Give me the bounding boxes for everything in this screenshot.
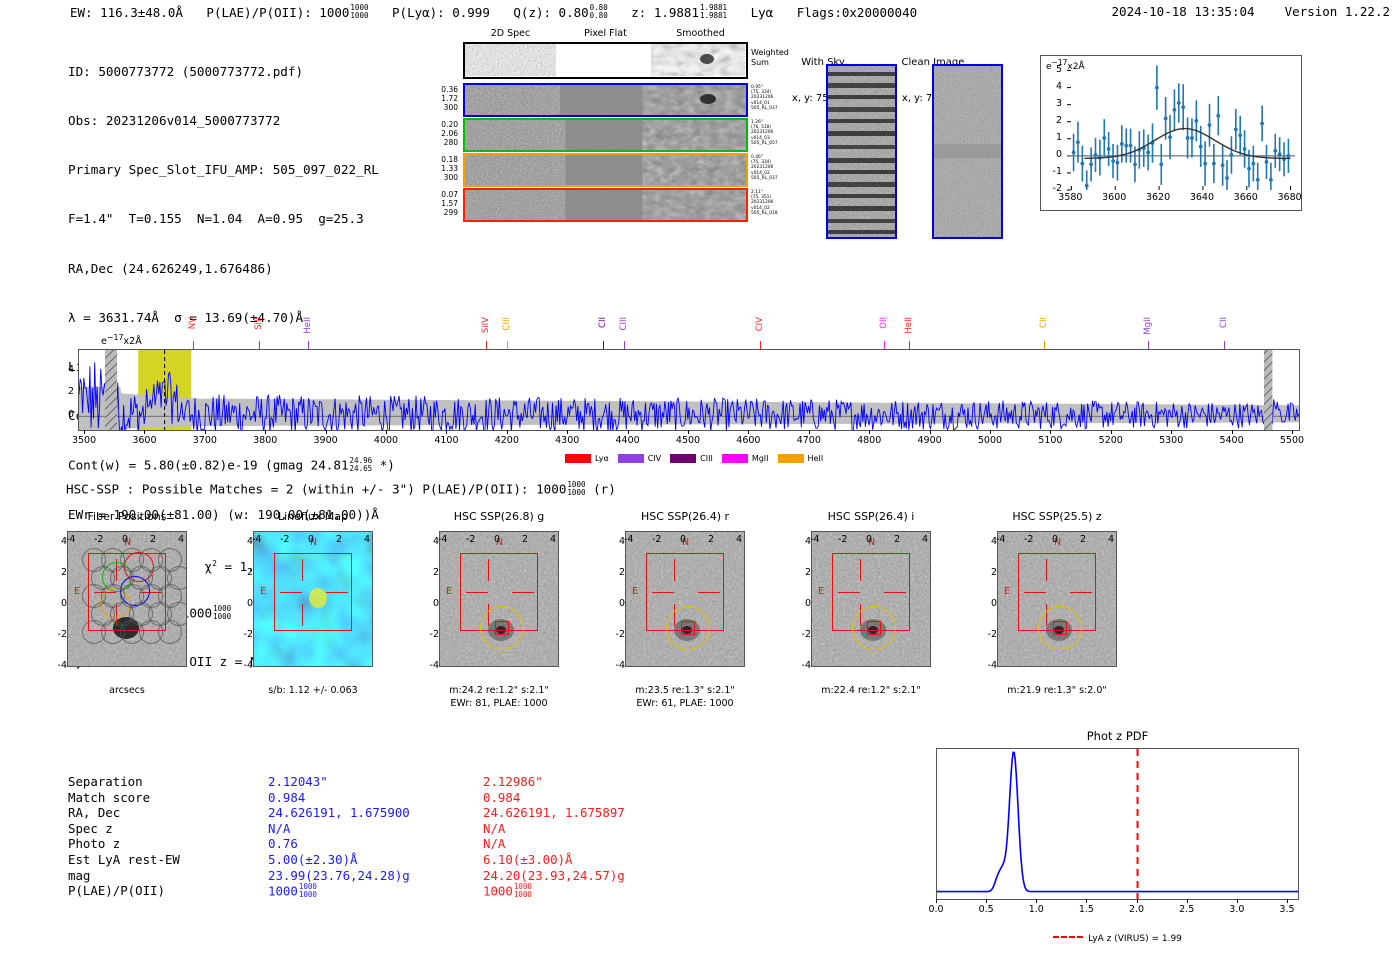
spectrum-line-tick (259, 341, 260, 349)
cutout-xtick: 2 (894, 534, 900, 545)
cutout-title: HSC SSP(26.4) r (605, 510, 765, 523)
header-ew: EW: 116.3±48.0Å (70, 5, 183, 20)
cutout-crosshair (1046, 559, 1047, 581)
match-row-label: mag (68, 868, 268, 884)
cutout-image-image: NE (625, 531, 745, 667)
photz-xtick-mark (1237, 899, 1238, 903)
cutout-crosshair (512, 592, 534, 593)
header-plya: P(Lyα): 0.999 (392, 5, 490, 20)
photz-xtick-mark (1086, 899, 1087, 903)
panel-1-left-nums: 0.20 2.06 280 (424, 120, 458, 148)
spectrum-xtick: 5200 (1091, 435, 1131, 446)
photz-xtick-mark (1036, 899, 1037, 903)
spectrum-legend-item: Lyα (565, 454, 609, 463)
cutout-ytick: -4 (41, 660, 67, 671)
spectrum-xtick: 5300 (1151, 435, 1191, 446)
spectrum-legend: LyαCIVCIIIMgIIHeII (565, 452, 855, 464)
match-row-value-blue: 23.99(23.76,24.28)g (268, 868, 483, 884)
spectrum-line-tick (193, 341, 194, 349)
match-table-row: RA, Dec24.626191, 1.67590024.626191, 1.6… (68, 805, 723, 821)
spectrum-line-label-cii-12: CII (1219, 317, 1229, 328)
spectrum-legend-item: CIII (670, 454, 713, 463)
legend-swatch (565, 454, 591, 463)
header-plae: P(LAE)/P(OII): 100010001000 (206, 5, 368, 20)
photz-xtick-mark (936, 899, 937, 903)
spectrum-xtick: 5500 (1272, 435, 1312, 446)
cutout-ytick: -2 (971, 629, 997, 640)
photz-xtick: 1.5 (1070, 904, 1102, 915)
fiber-panel-3 (463, 188, 748, 222)
spectrum-xtick-mark (1232, 430, 1233, 434)
spectrum-xtick-mark (567, 430, 568, 434)
cutout-xtick: -2 (652, 534, 661, 545)
col-title-smoothed: Smoothed (653, 28, 748, 39)
spectrum-xtick: 4100 (426, 435, 466, 446)
cutout-ytick: 2 (227, 567, 253, 578)
spectrum-line-tick (1224, 341, 1225, 349)
legend-swatch (722, 454, 748, 463)
spectrum-line-tick (308, 341, 309, 349)
spectrum-xtick-mark (205, 430, 206, 434)
header-meta: 2024-10-18 13:35:04 Version 1.22.2 (1112, 4, 1390, 19)
clean-image (932, 64, 1003, 239)
cutout-xtick: -4 (438, 534, 447, 545)
cutout-title: HSC SSP(26.8) g (419, 510, 579, 523)
cutout-ytick: -4 (227, 660, 253, 671)
match-row-value-red: 24.626191, 1.675897 (483, 805, 723, 821)
cutout-crosshair (280, 592, 302, 593)
match-row-label: Est LyA rest-EW (68, 852, 268, 868)
header-version: Version 1.22.2 (1285, 4, 1390, 19)
cutout-title: Fiber Positions (47, 510, 207, 523)
spectrum-xtick: 3800 (245, 435, 285, 446)
cutout-panel-5[interactable]: HSC SSP(25.5) zNE420-2-4-4-2024m:21.9 re… (997, 531, 1117, 667)
cutout-crosshair (838, 592, 860, 593)
photz-legend-label: LyA z (VIRUS) = 1.99 (1088, 934, 1182, 944)
cutout-crosshair (884, 592, 906, 593)
header-timestamp: 2024-10-18 13:35:04 (1112, 4, 1255, 19)
match-row-value-red: 6.10(±3.00)Å (483, 852, 723, 868)
spectrum-line-label-siii-1: SiII (254, 317, 264, 330)
match-row-value-blue: 0.984 (268, 790, 483, 806)
cutout-xtick: -2 (466, 534, 475, 545)
cutout-match-marker (867, 621, 881, 635)
spectrum-legend-item: MgII (722, 454, 769, 463)
spectrum-xtick: 4900 (910, 435, 950, 446)
cutout-ytick: -2 (785, 629, 811, 640)
match-table-row: Spec zN/AN/A (68, 821, 723, 837)
spectrum-xtick: 5400 (1212, 435, 1252, 446)
cutout-xtick: -2 (94, 534, 103, 545)
cutout-panel-0[interactable]: Fiber PositionsNE420-2-4-4-2024arcsecs (67, 531, 187, 667)
cutout-image-image: NE (997, 531, 1117, 667)
cutout-ytick: -2 (599, 629, 625, 640)
photz-legend-dash (1053, 936, 1083, 938)
weighted-sum-image (465, 44, 745, 76)
fiber-panel-1 (463, 118, 748, 152)
fiber-panel-0 (463, 83, 748, 117)
cutout-xtick: 2 (150, 534, 156, 545)
cutout-ytick: 0 (41, 598, 67, 609)
spectrum-xtick-mark (1292, 430, 1293, 434)
cutout-caption-1: m:24.2 re:1.2" s:2.1" (415, 685, 583, 696)
cutout-xtick: -4 (252, 534, 261, 545)
match-row-label: Separation (68, 774, 268, 790)
spectrum-line-label-civ-7: CIV (755, 317, 765, 331)
cutout-ytick: 2 (785, 567, 811, 578)
spectrum-xtick-mark (84, 430, 85, 434)
cutout-east-label: E (446, 586, 452, 597)
cutout-ytick: -4 (599, 660, 625, 671)
cutout-xtick: 4 (364, 534, 370, 545)
spectrum-line-tick (1044, 341, 1045, 349)
spectrum-xtick: 4700 (789, 435, 829, 446)
line-profile-svg (1041, 56, 1301, 210)
photz-legend: LyA z (VIRUS) = 1.99 (936, 934, 1299, 944)
cutout-ytick: -4 (785, 660, 811, 671)
cutout-ytick: 4 (227, 536, 253, 547)
cutout-title: Lineflux Map (233, 510, 393, 523)
match-properties-table: Separation2.12043"2.12986"Match score0.9… (68, 774, 723, 899)
cutout-caption-2: EWr: 61, PLAE: 1000 (601, 698, 769, 709)
legend-swatch (618, 454, 644, 463)
spectrum-line-tick (624, 341, 625, 349)
panel-0-left-nums: 0.36 1.72 300 (424, 85, 458, 113)
cutout-east-label: E (632, 586, 638, 597)
fiber-panel-2 (463, 153, 748, 187)
cutout-ytick: 4 (971, 536, 997, 547)
cutout-panel-4[interactable]: HSC SSP(26.4) iNE420-2-4-4-2024m:22.4 re… (811, 531, 931, 667)
cutout-ytick: 0 (971, 598, 997, 609)
cutout-xtick: -2 (280, 534, 289, 545)
match-row-value-blue: N/A (268, 821, 483, 837)
header-line-name: Lyα (751, 5, 774, 20)
spectrum-xtick: 4600 (728, 435, 768, 446)
cutout-xtick: 2 (336, 534, 342, 545)
cutout-xtick: -2 (838, 534, 847, 545)
header-qz: Q(z): 0.800.800.80 (513, 5, 607, 20)
spectrum-line-tick (486, 341, 487, 349)
cutout-xtick: 4 (922, 534, 928, 545)
panel-3-left-nums: 0.07 1.57 299 (424, 190, 458, 218)
cutout-panel-3[interactable]: HSC SSP(26.4) rNE420-2-4-4-2024m:23.5 re… (625, 531, 745, 667)
cutout-xtick: 0 (680, 534, 686, 545)
cutout-xtick: 2 (522, 534, 528, 545)
panel-2-right-label: 0.46" (75, 334) 20231206 v014_02 505_RL_… (751, 155, 803, 181)
spectrum-xtick: 4300 (547, 435, 587, 446)
panel-2-left-nums: 0.18 1.33 300 (424, 155, 458, 183)
cutout-image-image: NE (439, 531, 559, 667)
cutout-xtick: 4 (736, 534, 742, 545)
cutout-ytick: -2 (41, 629, 67, 640)
line-profile-ytick: 4 (1048, 81, 1062, 92)
line-profile-ytick: 1 (1048, 132, 1062, 143)
photz-xtick: 0.0 (920, 904, 952, 915)
cutout-xtick: 0 (494, 534, 500, 545)
spectrum-line-label-cii-5: CII (598, 317, 608, 328)
spectrum-xtick: 4200 (487, 435, 527, 446)
spectrum-xtick-mark (265, 430, 266, 434)
line-profile-plot: e−17x2Å (1040, 55, 1302, 211)
legend-swatch (778, 454, 804, 463)
photz-xtick-mark (1187, 899, 1188, 903)
full-spectrum-plot: e−17x2Å (78, 349, 1300, 431)
weighted-sum-panel (463, 42, 748, 79)
line-profile-ytick: 2 (1048, 115, 1062, 126)
cutout-image-image: NE (811, 531, 931, 667)
info-id: ID: 5000773772 (5000773772.pdf) (68, 64, 395, 80)
cutout-caption-1: s/b: 1.12 +/- 0.063 (229, 685, 397, 696)
match-row-value-red: 24.20(23.93,24.57)g (483, 868, 723, 884)
spectrum-xtick-mark (144, 430, 145, 434)
spectrum-xtick: 3700 (185, 435, 225, 446)
cutout-crosshair (1024, 592, 1046, 593)
info-cont-w: Cont(w) = 5.80(±0.82)e-19 (gmag 24.8124.… (68, 457, 395, 473)
cutout-ytick: 4 (41, 536, 67, 547)
cutout-ytick: 2 (41, 567, 67, 578)
cutout-crosshair (302, 559, 303, 581)
cutout-xtick: 4 (178, 534, 184, 545)
spectrum-xtick-mark (869, 430, 870, 434)
match-row-label: P(LAE)/P(OII) (68, 883, 268, 899)
match-row-value-blue: 100010001000 (268, 883, 483, 899)
cutout-ytick: 2 (599, 567, 625, 578)
match-table-row: P(LAE)/P(OII)100010001000100010001000 (68, 883, 723, 899)
cutout-image-fiber: NE (67, 531, 187, 667)
spectrum-legend-item: HeII (778, 454, 824, 463)
spectrum-ytick: 2 (62, 386, 74, 397)
spectrum-xtick: 5000 (970, 435, 1010, 446)
cutout-xtick: 2 (708, 534, 714, 545)
cutout-crosshair (1070, 592, 1092, 593)
photz-title: Phot z PDF (936, 729, 1299, 743)
hsc-ssp-header: HSC-SSP : Possible Matches = 2 (within +… (66, 481, 616, 497)
cutout-ytick: 0 (599, 598, 625, 609)
cutout-xtick: 0 (1052, 534, 1058, 545)
line-profile-xtick: 3580 (1054, 192, 1086, 203)
spectrum-xtick-mark (688, 430, 689, 434)
spectrum-xtick-mark (990, 430, 991, 434)
spec2d-block: 2D Spec Pixel Flat Smoothed (420, 28, 780, 258)
line-profile-xtick: 3620 (1142, 192, 1174, 203)
legend-label: CIV (648, 454, 661, 463)
match-table-row: Photo z0.76N/A (68, 836, 723, 852)
spectrum-line-label-oii-8: OII (879, 317, 889, 329)
legend-swatch (670, 454, 696, 463)
cutout-match-marker (681, 621, 695, 635)
photz-xtick-mark (1137, 899, 1138, 903)
spectrum-ytick: 4 (62, 364, 74, 375)
cutout-image-lineflux: NE (253, 531, 373, 667)
panel-3-right-label: 2.11" (75, 351) 20231206 v014_02 505_RL_… (751, 190, 803, 216)
line-profile-xtick: 3600 (1098, 192, 1130, 203)
spectrum-line-tick (507, 341, 508, 349)
cutout-crosshair (488, 559, 489, 581)
photz-svg (937, 749, 1298, 899)
photz-xtick: 3.0 (1221, 904, 1253, 915)
line-profile-xtick: 3640 (1186, 192, 1218, 203)
cutout-caption-1: m:21.9 re:1.3" s:2.0" (973, 685, 1141, 696)
match-row-value-red: 100010001000 (483, 883, 723, 899)
photz-xtick-mark (986, 899, 987, 903)
cutout-xtick: -4 (624, 534, 633, 545)
cutout-caption-1: m:23.5 re:1.3" s:2.1" (601, 685, 769, 696)
spectrum-ytick: 0 (62, 409, 74, 420)
match-row-value-blue: 5.00(±2.30)Å (268, 852, 483, 868)
match-row-label: RA, Dec (68, 805, 268, 821)
spectrum-xtick-mark (326, 430, 327, 434)
photz-xtick: 2.5 (1171, 904, 1203, 915)
spectrum-line-tick (1148, 341, 1149, 349)
legend-label: MgII (752, 454, 769, 463)
cutout-xtick: 4 (1108, 534, 1114, 545)
cutout-ytick: 2 (971, 567, 997, 578)
spectrum-line-label-heii-2: HeII (303, 317, 313, 334)
match-table-row: Separation2.12043"2.12986" (68, 774, 723, 790)
spectrum-line-label-mgii-11: MgII (1143, 317, 1153, 335)
match-row-value-red: 0.984 (483, 790, 723, 806)
line-profile-ytick: 3 (1048, 98, 1062, 109)
cutout-ytick: -4 (413, 660, 439, 671)
info-seeing: F=1.4" T=0.155 N=1.04 A=0.95 g=25.3 (68, 211, 395, 227)
match-row-label: Photo z (68, 836, 268, 852)
info-radec: RA,Dec (24.626249,1.676486) (68, 261, 395, 277)
cutout-crosshair (698, 592, 720, 593)
photz-xtick: 3.5 (1271, 904, 1303, 915)
line-profile-xtick: 3660 (1230, 192, 1262, 203)
photz-xtick: 0.5 (970, 904, 1002, 915)
spectrum-xtick: 5100 (1030, 435, 1070, 446)
spectrum-line-tick (603, 341, 604, 349)
cutout-caption-1: m:22.4 re:1.2" s:2.1" (787, 685, 955, 696)
spectrum-xtick-mark (386, 430, 387, 434)
spectrum-xtick: 3500 (64, 435, 104, 446)
match-row-value-red: N/A (483, 821, 723, 837)
cutout-ytick: 4 (413, 536, 439, 547)
cutout-ytick: 0 (227, 598, 253, 609)
legend-label: Lyα (595, 454, 609, 463)
legend-label: HeII (808, 454, 824, 463)
spectrum-xtick: 4800 (849, 435, 889, 446)
spectrum-line-label-siiv-3: SiIV (481, 317, 491, 333)
photz-pdf-plot (936, 748, 1299, 900)
cutout-xtick: -2 (1024, 534, 1033, 545)
cutout-title: HSC SSP(26.4) i (791, 510, 951, 523)
spectrum-xtick-mark (446, 430, 447, 434)
spectrum-xtick-mark (1171, 430, 1172, 434)
spectrum-xtick: 4500 (668, 435, 708, 446)
cutout-ytick: 0 (785, 598, 811, 609)
spectrum-units: e−17x2Å (101, 333, 142, 347)
spectrum-xtick-mark (1111, 430, 1112, 434)
full-spectrum-svg (79, 350, 1299, 430)
cutout-ytick: 0 (413, 598, 439, 609)
line-profile-ytick: 0 (1048, 149, 1062, 160)
match-table-row: mag23.99(23.76,24.28)g24.20(23.93,24.57)… (68, 868, 723, 884)
cutout-ytick: -2 (227, 629, 253, 640)
cutout-xtick: 0 (308, 534, 314, 545)
cutout-east-label: E (818, 586, 824, 597)
cutout-xtick: 0 (866, 534, 872, 545)
spectrum-xtick-mark (930, 430, 931, 434)
cutout-crosshair (652, 592, 674, 593)
match-row-value-blue: 0.76 (268, 836, 483, 852)
cutout-caption-2: EWr: 81, PLAE: 1000 (415, 698, 583, 709)
cutout-crosshair (466, 592, 488, 593)
info-primary-spec: Primary Spec_Slot_IFU_AMP: 505_097_022_R… (68, 162, 395, 178)
spectrum-line-label-ciii-6: CIII (619, 317, 629, 330)
spectrum-line-label-heii-9: HeII (904, 317, 914, 334)
legend-label: CIII (700, 454, 713, 463)
spectrum-xtick-mark (748, 430, 749, 434)
cutout-panel-2[interactable]: HSC SSP(26.8) gNE420-2-4-4-2024m:24.2 re… (439, 531, 559, 667)
spectrum-xtick-mark (628, 430, 629, 434)
cutout-ytick: 2 (413, 567, 439, 578)
match-row-value-red: N/A (483, 836, 723, 852)
spectrum-xtick: 3900 (306, 435, 346, 446)
cutout-east-label: E (74, 586, 80, 597)
line-profile-xtick: 3680 (1274, 192, 1306, 203)
photz-xtick: 2.0 (1121, 904, 1153, 915)
elixer-report-page: EW: 116.3±48.0Å P(LAE)/P(OII): 100010001… (0, 0, 1400, 953)
spectrum-xtick-mark (1050, 430, 1051, 434)
col-title-2dspec: 2D Spec (463, 28, 558, 39)
info-lambda: λ = 3631.74Å σ = 13.69(±4.70)Å (68, 310, 395, 326)
cutout-east-label: E (1004, 586, 1010, 597)
cutout-panel-1[interactable]: Lineflux MapNE420-2-4-4-2024s/b: 1.12 +/… (253, 531, 373, 667)
spectrum-line-label-nv-0: NV (188, 317, 198, 329)
cutout-ytick: 4 (785, 536, 811, 547)
spectrum-xtick: 4000 (366, 435, 406, 446)
cutout-match-marker (495, 621, 509, 635)
cutout-xtick: 0 (122, 534, 128, 545)
spectrum-line-label-cii-10: CII (1039, 317, 1049, 328)
line-profile-ytick: 5 (1048, 64, 1062, 75)
spectrum-xtick-mark (809, 430, 810, 434)
cutout-xtick: 2 (1080, 534, 1086, 545)
spectrum-line-tick (884, 341, 885, 349)
spectrum-line-label-ciii-4: CIII (502, 317, 512, 330)
cutout-ytick: 4 (599, 536, 625, 547)
match-row-value-red: 2.12986" (483, 774, 723, 790)
col-title-pixelflat: Pixel Flat (558, 28, 653, 39)
cutout-crosshair (326, 592, 348, 593)
info-obs: Obs: 20231206v014_5000773772 (68, 113, 395, 129)
photz-xtick-mark (1287, 899, 1288, 903)
line-profile-ytick: -1 (1048, 166, 1062, 177)
match-table-row: Est LyA rest-EW5.00(±2.30)Å6.10(±3.00)Å (68, 852, 723, 868)
cutout-xtick: -4 (810, 534, 819, 545)
spectrum-line-tick (760, 341, 761, 349)
cutout-crosshair (860, 559, 861, 581)
cutout-match-marker (1053, 621, 1067, 635)
photz-xtick: 1.0 (1020, 904, 1052, 915)
cutout-caption-1: arcsecs (43, 685, 211, 696)
cutout-crosshair (674, 559, 675, 581)
cutout-title: HSC SSP(25.5) z (977, 510, 1137, 523)
spectrum-xtick-mark (507, 430, 508, 434)
cutout-xtick: -4 (996, 534, 1005, 545)
cutout-xtick: 4 (550, 534, 556, 545)
spectrum-xtick: 4400 (608, 435, 648, 446)
spectrum-legend-item: CIV (618, 454, 661, 463)
spectrum-xtick: 3600 (124, 435, 164, 446)
spectrum-line-tick (909, 341, 910, 349)
cutout-crosshair (302, 604, 303, 626)
cutout-ytick: -2 (413, 629, 439, 640)
header-z: z: 1.98811.98811.9881 (631, 5, 727, 20)
match-row-value-blue: 2.12043" (268, 774, 483, 790)
